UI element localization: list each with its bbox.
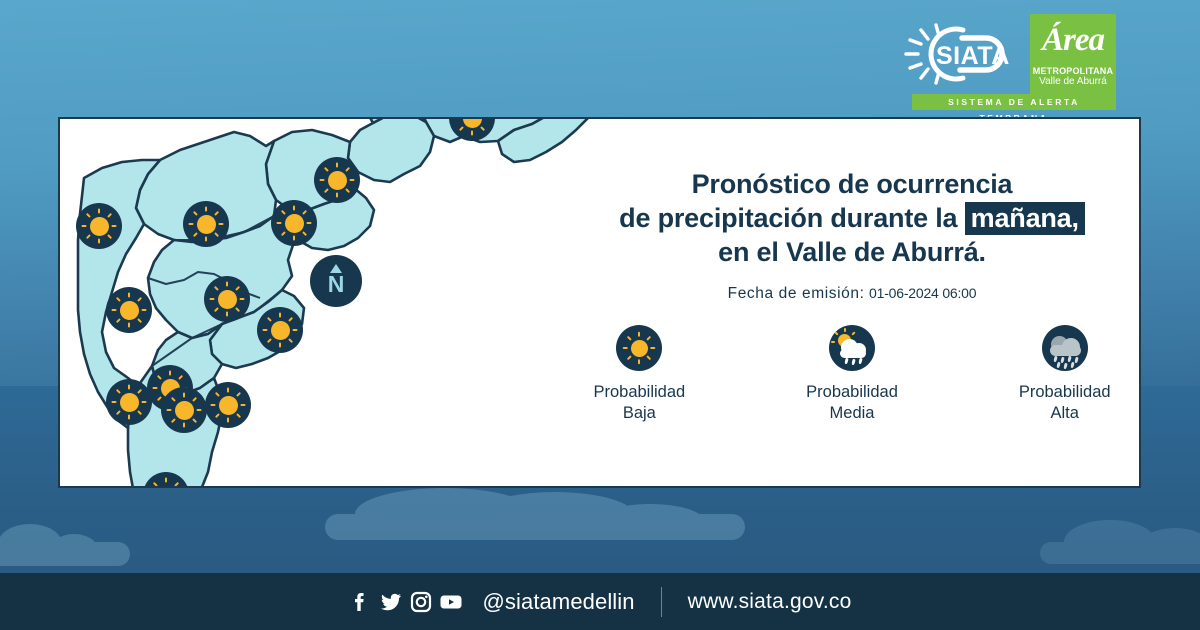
station-marker-sun-icon bbox=[183, 201, 229, 247]
station-marker-sun-icon bbox=[147, 365, 193, 411]
compass-north-label: N bbox=[310, 273, 362, 296]
legend-caption-media: Probabilidad Media bbox=[785, 382, 920, 424]
instagram-icon[interactable] bbox=[408, 589, 434, 615]
content-card: N Pronóstico de ocurrencia de precipitac… bbox=[58, 117, 1141, 488]
area-metropolitana-logo: Área METROPOLITANA Valle de Aburrá bbox=[1030, 14, 1116, 94]
legend-caption-alta: Probabilidad Alta bbox=[997, 382, 1132, 424]
footer-divider bbox=[661, 587, 662, 617]
station-marker-sun-icon bbox=[106, 287, 152, 333]
station-marker-sun-icon bbox=[76, 203, 122, 249]
station-marker-sun-icon bbox=[143, 472, 189, 488]
issue-date-row: Fecha de emisión: 01-06-2024 06:00 bbox=[572, 285, 1132, 303]
logo-group: SIATA Área METROPOLITANA Valle de Aburrá… bbox=[898, 14, 1116, 114]
facebook-icon[interactable] bbox=[348, 589, 374, 615]
issue-date-value: 01-06-2024 06:00 bbox=[869, 285, 976, 301]
footer-bar: @siatamedellin www.siata.gov.co bbox=[0, 573, 1200, 630]
station-marker-sun-icon bbox=[204, 276, 250, 322]
issue-date-label: Fecha de emisión: bbox=[728, 285, 865, 302]
legend-caption-baja: Probabilidad Baja bbox=[572, 382, 707, 424]
compass-rose: N bbox=[310, 255, 362, 307]
sun-cloud-rain-icon bbox=[829, 325, 875, 371]
background-cloud-center bbox=[325, 488, 745, 540]
legend-caption-baja-line2: Baja bbox=[572, 403, 707, 424]
siata-wordmark: SIATA bbox=[936, 42, 1010, 71]
siata-logo: SIATA bbox=[900, 18, 1030, 90]
title-line-2: de precipitación durante la mañana, bbox=[572, 201, 1132, 235]
background-cloud-right bbox=[1040, 520, 1200, 564]
youtube-icon[interactable] bbox=[438, 589, 464, 615]
legend-item-media: Probabilidad Media bbox=[785, 325, 920, 424]
probability-legend: Probabilidad Baja bbox=[572, 325, 1132, 424]
website-url[interactable]: www.siata.gov.co bbox=[688, 590, 852, 614]
station-marker-sun-icon bbox=[205, 382, 251, 428]
station-marker-sun-icon bbox=[271, 200, 317, 246]
sun-icon bbox=[616, 325, 662, 371]
siata-tagline: SISTEMA DE ALERTA TEMPRANA bbox=[912, 94, 1116, 110]
station-marker-sun-icon bbox=[106, 379, 152, 425]
title-line-1: Pronóstico de ocurrencia bbox=[572, 167, 1132, 201]
legend-caption-media-line1: Probabilidad bbox=[785, 382, 920, 403]
station-marker-sun-icon bbox=[314, 157, 360, 203]
cloud-heavy-rain-icon bbox=[1042, 325, 1088, 371]
station-marker-sun-icon bbox=[257, 307, 303, 353]
legend-caption-alta-line1: Probabilidad bbox=[997, 382, 1132, 403]
background-cloud-left bbox=[0, 524, 130, 564]
area-script-text: Área bbox=[1030, 14, 1116, 66]
compass-arrow-icon bbox=[330, 264, 342, 273]
area-line1: METROPOLITANA bbox=[1030, 66, 1116, 76]
title-highlight-manana: mañana, bbox=[965, 202, 1085, 235]
legend-item-baja: Probabilidad Baja bbox=[572, 325, 707, 424]
station-marker-sun-icon bbox=[449, 117, 495, 141]
legend-caption-baja-line1: Probabilidad bbox=[572, 382, 707, 403]
page-title: Pronóstico de ocurrencia de precipitació… bbox=[572, 167, 1132, 269]
legend-caption-media-line2: Media bbox=[785, 403, 920, 424]
forecast-panel: Pronóstico de ocurrencia de precipitació… bbox=[572, 167, 1132, 424]
social-handle[interactable]: @siatamedellin bbox=[482, 589, 634, 615]
legend-caption-alta-line2: Alta bbox=[997, 403, 1132, 424]
legend-item-alta: Probabilidad Alta bbox=[997, 325, 1132, 424]
station-marker-sun-icon bbox=[161, 387, 207, 433]
title-line-2-text: de precipitación durante la bbox=[619, 203, 964, 233]
twitter-icon[interactable] bbox=[378, 589, 404, 615]
area-line2: Valle de Aburrá bbox=[1030, 76, 1116, 88]
title-line-3: en el Valle de Aburrá. bbox=[572, 235, 1132, 269]
